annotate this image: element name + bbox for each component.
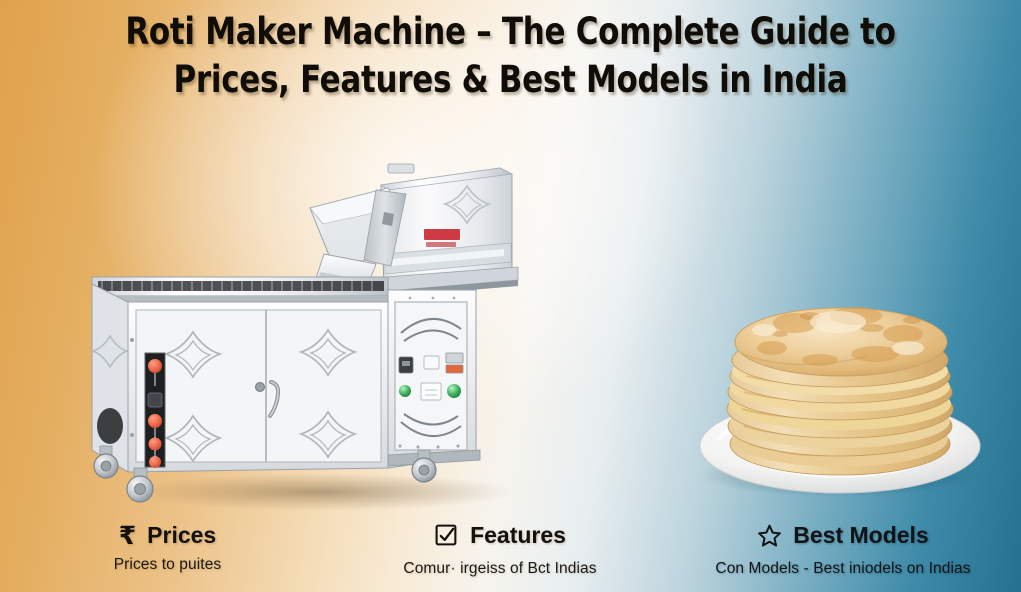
feature-highlights-row: ₹ Prices Prices to puites Features Comur… bbox=[0, 523, 1021, 578]
feature-best-models-heading: Best Models bbox=[757, 523, 928, 548]
feature-item-best-models: Best Models Con Models - Best iniodels o… bbox=[665, 523, 1021, 578]
castor-wheel bbox=[127, 468, 153, 502]
feature-item-prices: ₹ Prices Prices to puites bbox=[0, 523, 335, 578]
machine-control-panel-cabinet bbox=[388, 290, 480, 468]
roti-stack bbox=[727, 307, 953, 475]
control-panel-power-light bbox=[447, 384, 461, 398]
roti-stack-image bbox=[660, 268, 1020, 503]
feature-features-subtitle: Comur· irgeiss of Bct Indias bbox=[335, 560, 665, 578]
burner-knob bbox=[148, 414, 162, 428]
rupee-icon: ₹ bbox=[119, 523, 136, 548]
burner-knob-strip bbox=[145, 353, 165, 468]
feature-prices-title: Prices bbox=[147, 524, 216, 547]
machine-brand-label bbox=[424, 229, 460, 247]
control-panel-display bbox=[424, 356, 439, 369]
machine-conveyor-deck bbox=[92, 277, 388, 303]
side-panel-outlet bbox=[97, 408, 123, 444]
roti-top bbox=[732, 307, 948, 387]
feature-prices-heading: ₹ Prices bbox=[119, 523, 216, 548]
promotional-banner: Roti Maker Machine – The Complete Guide … bbox=[0, 0, 1021, 592]
feature-features-title: Features bbox=[470, 524, 566, 547]
headline-line-2: Prices, Features & Best Models in India bbox=[36, 56, 986, 104]
banner-headline: Roti Maker Machine – The Complete Guide … bbox=[36, 8, 986, 104]
star-outline-icon bbox=[757, 523, 782, 548]
checkbox-check-icon bbox=[434, 523, 459, 548]
control-panel-keypad bbox=[421, 383, 441, 400]
feature-best-models-title: Best Models bbox=[793, 524, 928, 547]
burner-knob bbox=[149, 438, 162, 451]
burner-knob bbox=[149, 456, 161, 468]
control-panel-meter bbox=[446, 353, 463, 363]
feature-prices-subtitle: Prices to puites bbox=[0, 556, 335, 574]
control-panel-indicator-light bbox=[399, 385, 411, 397]
control-panel-face bbox=[395, 302, 467, 450]
feature-features-heading: Features bbox=[434, 523, 566, 548]
headline-line-1: Roti Maker Machine – The Complete Guide … bbox=[125, 10, 895, 53]
machine-main-cabinet bbox=[92, 284, 388, 472]
machine-ground-shadow bbox=[128, 473, 518, 511]
roti-maker-machine-image bbox=[88, 150, 548, 515]
feature-best-models-subtitle: Con Models - Best iniodels on Indias bbox=[665, 560, 1021, 578]
feature-item-features: Features Comur· irgeiss of Bct Indias bbox=[335, 523, 665, 578]
hopper-top-vent bbox=[388, 164, 414, 173]
burner-knob bbox=[148, 359, 162, 373]
